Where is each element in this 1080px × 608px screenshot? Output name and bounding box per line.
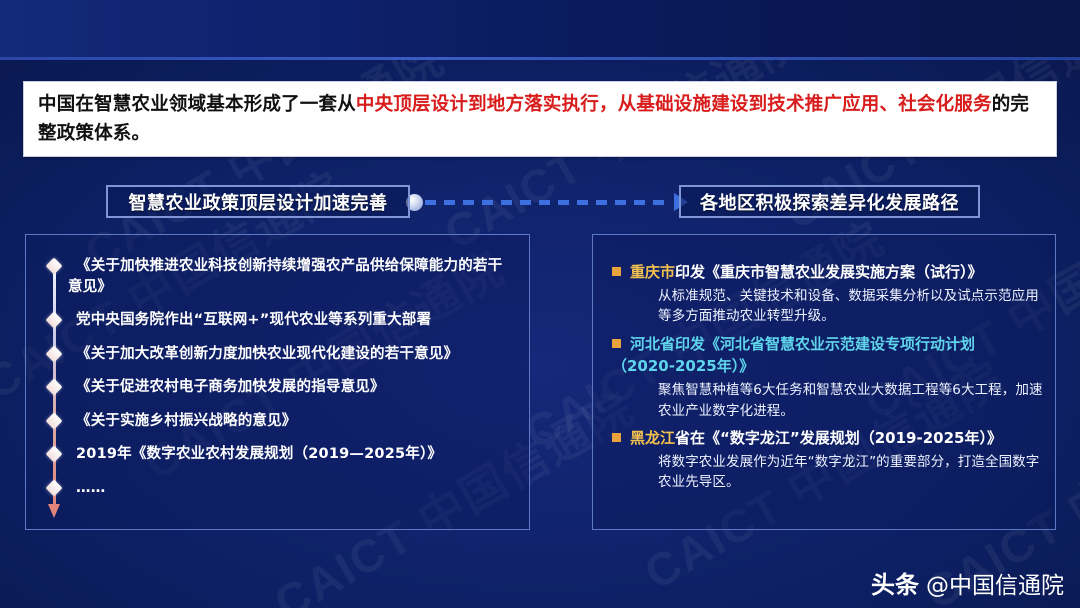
left-policy-item: 党中央国务院作出“互联网+”现代农业等系列重大部署 <box>68 310 516 331</box>
timeline-node <box>46 446 63 463</box>
description-box: 中国在智慧农业领域基本形成了一套从中央顶层设计到地方落实执行，从基础设施建设到技… <box>23 81 1057 157</box>
description-text: 中国在智慧农业领域基本形成了一套从中央顶层设计到地方落实执行，从基础设施建设到技… <box>38 91 1042 148</box>
region-entry-description: 从标准规范、关键技术和设备、数据采集分析以及试点示范应用等多方面推动农业转型升级… <box>658 286 1048 327</box>
description-highlight: 中央顶层设计到地方落实执行，从基础设施建设到技术推广应用、社会化服务 <box>356 94 992 115</box>
left-column-heading-label: 智慧农业政策顶层设计加速完善 <box>129 189 388 215</box>
connector-dashed-line <box>425 200 672 205</box>
timeline-node <box>46 312 63 329</box>
account-label: @中国信通院 <box>926 566 1064 600</box>
timeline-arrow-icon <box>48 504 60 518</box>
region-title-text: 河北省印发《河北省智慧农业示范建设专项行动计划 <box>630 334 975 355</box>
left-policy-item: 2019年《数字农业农村发展规划（2019—2025年）》 <box>68 444 516 465</box>
timeline-node <box>46 345 63 362</box>
left-column-heading: 智慧农业政策顶层设计加速完善 <box>106 185 410 218</box>
square-bullet-icon <box>612 433 621 442</box>
left-policy-item: 《关于加大改革创新力度加快农业现代化建设的若干意见》 <box>68 344 516 365</box>
square-bullet-icon <box>612 267 621 276</box>
region-entry: 河北省印发《河北省智慧农业示范建设专项行动计划（2020-2025年）》聚焦智慧… <box>612 334 1048 421</box>
left-policy-item: 《关于实施乡村振兴战略的意见》 <box>68 411 516 432</box>
left-policy-list: 《关于加快推进农业科技创新持续增强农产品供给保障能力的若干意见》党中央国务院作出… <box>68 256 516 512</box>
region-title-text: 黑龙江省在《“数字龙江”发展规划（2019-2025年）》 <box>630 428 1002 449</box>
region-entry-title: 河北省印发《河北省智慧农业示范建设专项行动计划 <box>612 334 1048 355</box>
left-policy-item: 《关于加快推进农业科技创新持续增强农产品供给保障能力的若干意见》 <box>68 256 516 297</box>
region-entry-description: 将数字农业发展作为近年“数字龙江”的重要部分，打造全国数字农业先导区。 <box>658 452 1048 493</box>
footer-credit: 头条 @中国信通院 <box>871 565 1064 600</box>
left-policy-item: …… <box>68 478 516 499</box>
timeline-node <box>46 379 63 396</box>
region-title-text: 重庆市印发《重庆市智慧农业发展实施方案（试行）》 <box>630 262 983 283</box>
toutiao-label: 头条 <box>871 565 919 600</box>
description-part1: 中国在智慧农业领域基本形成了一套从 <box>38 94 356 115</box>
timeline-node <box>46 480 63 497</box>
square-bullet-icon <box>612 339 621 348</box>
slide-header <box>0 0 1080 59</box>
region-entry: 黑龙江省在《“数字龙江”发展规划（2019-2025年）》将数字农业发展作为近年… <box>612 428 1048 493</box>
region-entry: 重庆市印发《重庆市智慧农业发展实施方案（试行）》从标准规范、关键技术和设备、数据… <box>612 262 1048 327</box>
region-entry-title: 黑龙江省在《“数字龙江”发展规划（2019-2025年）》 <box>612 428 1048 449</box>
region-title-continuation: （2020-2025年）》 <box>612 356 1048 377</box>
flow-connector <box>406 193 688 211</box>
region-title-rest: 省在《“数字龙江”发展规划（2019-2025年）》 <box>675 429 1002 447</box>
timeline-node <box>46 412 63 429</box>
header-divider <box>0 57 1080 60</box>
left-policy-item: 《关于促进农村电子商务加快发展的指导意见》 <box>68 377 516 398</box>
right-column-heading: 各地区积极探索差异化发展路径 <box>679 185 980 218</box>
region-title-rest: 印发《河北省智慧农业示范建设专项行动计划 <box>675 335 975 353</box>
region-title-rest: 印发《重庆市智慧农业发展实施方案（试行）》 <box>675 263 983 281</box>
region-entry-description: 聚焦智慧种植等6大任务和智慧农业大数据工程等6大工程，加速农业产业数字化进程。 <box>658 380 1048 421</box>
slide-root: CAICT 中国信通院CAICT 中国信通院CAICT 中国信通院CAICT 中… <box>0 0 1080 608</box>
region-name: 重庆市 <box>630 263 675 281</box>
right-region-list: 重庆市印发《重庆市智慧农业发展实施方案（试行）》从标准规范、关键技术和设备、数据… <box>612 262 1048 500</box>
right-column-heading-label: 各地区积极探索差异化发展路径 <box>700 189 959 215</box>
region-name: 河北省 <box>630 335 675 353</box>
region-name: 黑龙江 <box>630 429 675 447</box>
region-entry-title: 重庆市印发《重庆市智慧农业发展实施方案（试行）》 <box>612 262 1048 283</box>
timeline-rail <box>47 264 61 528</box>
